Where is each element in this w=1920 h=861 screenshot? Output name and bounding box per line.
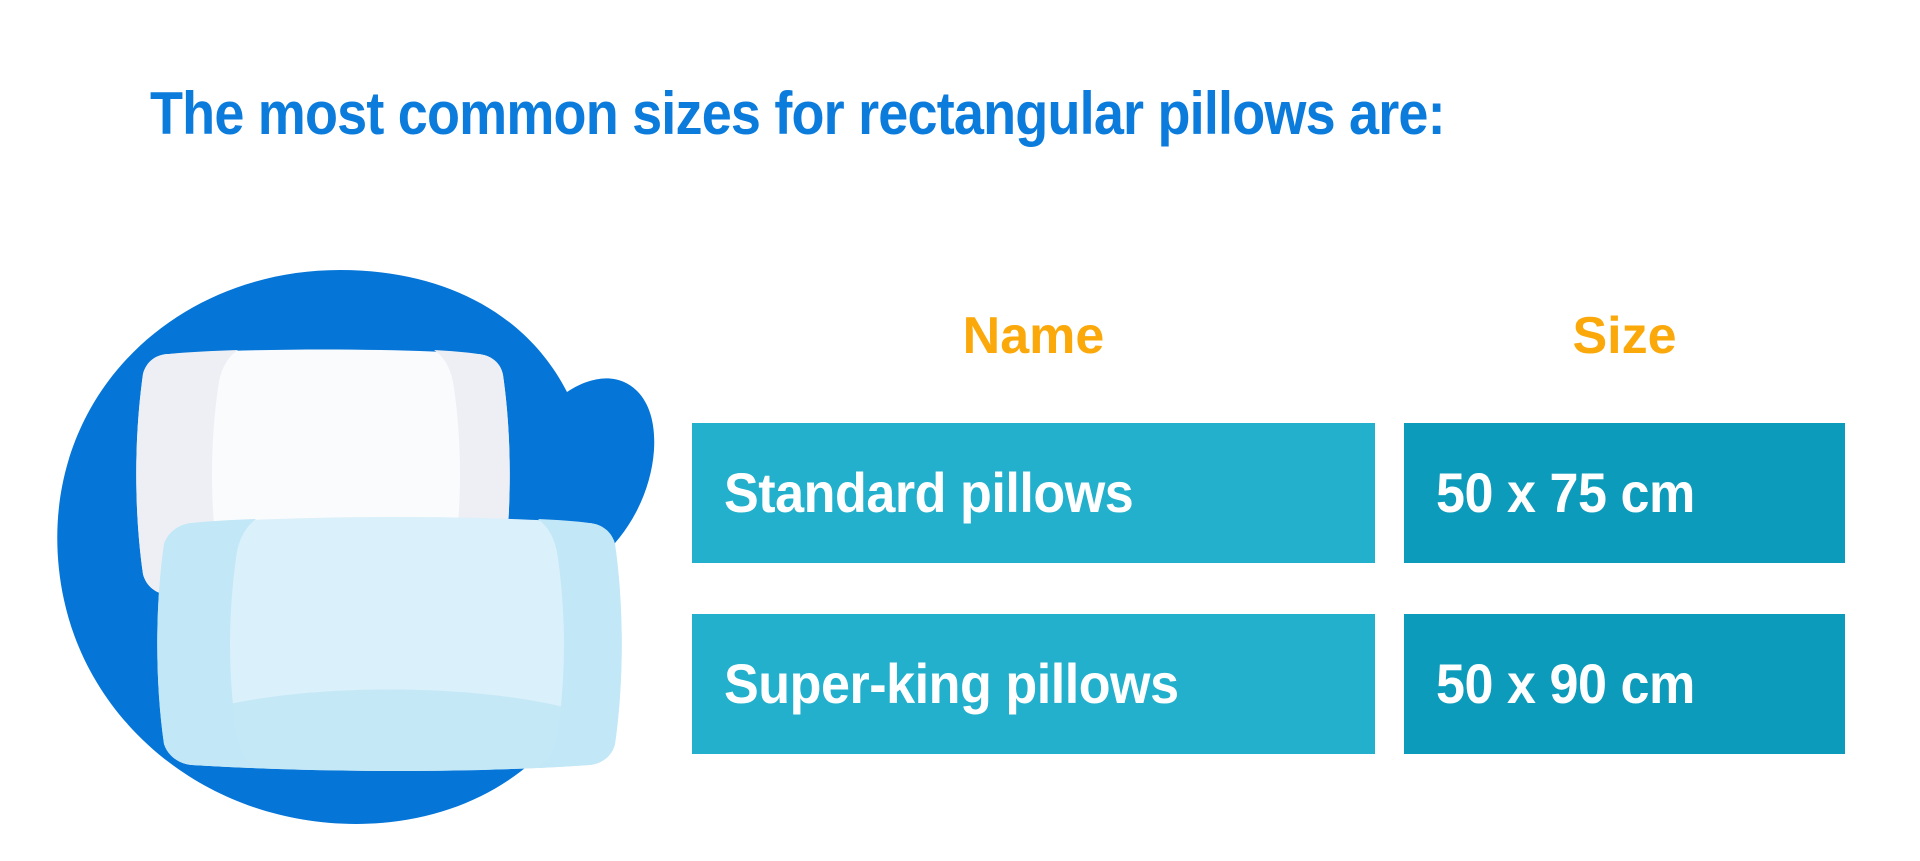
column-header-name: Name: [692, 300, 1375, 372]
cell-name-text: Standard pillows: [724, 461, 1133, 525]
table-row: Standard pillows 50 x 75 cm: [692, 423, 1845, 563]
cell-size-text: 50 x 90 cm: [1436, 652, 1695, 716]
cell-name: Super-king pillows: [692, 614, 1375, 754]
page-title: The most common sizes for rectangular pi…: [150, 78, 1626, 150]
column-header-size: Size: [1404, 300, 1845, 372]
cell-size: 50 x 75 cm: [1404, 423, 1845, 563]
light-blue-pillow: [157, 517, 622, 771]
pillow-sizes-table: Name Size Standard pillows 50 x 75 cm Su…: [692, 300, 1845, 755]
cell-size: 50 x 90 cm: [1404, 614, 1845, 754]
table-row: Super-king pillows 50 x 90 cm: [692, 614, 1845, 754]
pillows-illustration: [40, 262, 660, 832]
cell-name-text: Super-king pillows: [724, 652, 1179, 716]
cell-size-text: 50 x 75 cm: [1436, 461, 1695, 525]
table-header-row: Name Size: [692, 300, 1845, 372]
infographic-canvas: The most common sizes for rectangular pi…: [0, 0, 1920, 861]
cell-name: Standard pillows: [692, 423, 1375, 563]
